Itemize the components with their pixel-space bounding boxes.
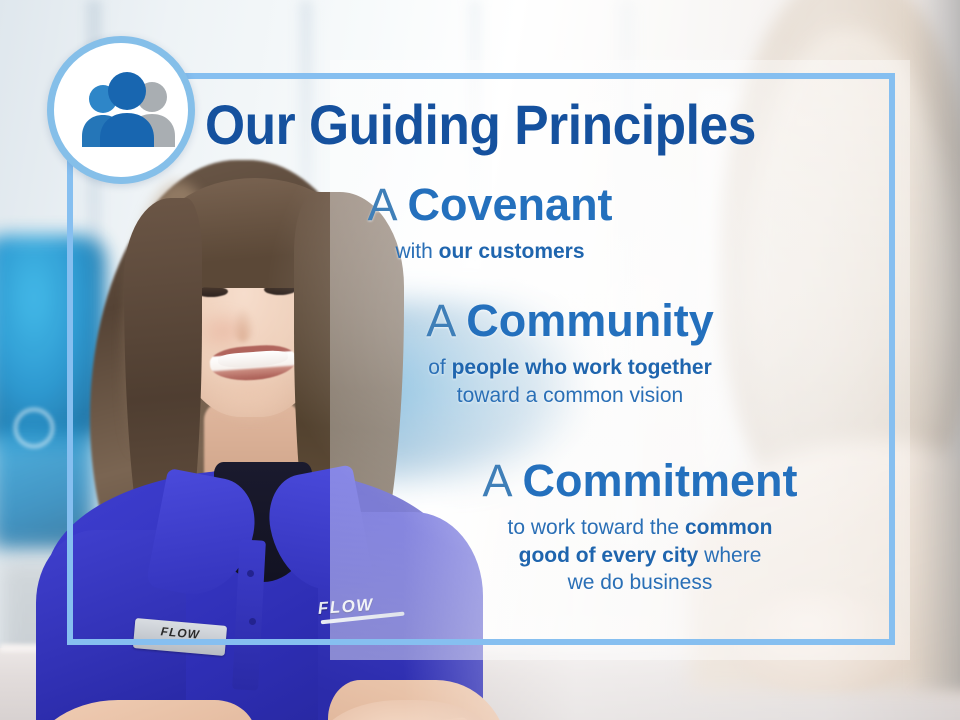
principle-word: Commitment: [523, 455, 798, 506]
principle-article: A: [482, 455, 510, 506]
name-badge-text: FLOW: [134, 622, 227, 644]
principle-heading: A Covenant: [260, 182, 720, 229]
principle-covenant: A Covenant with our customers: [260, 182, 720, 266]
employee-nose: [232, 308, 254, 342]
principle-community: A Community of people who work togethert…: [320, 298, 820, 409]
employee-chin: [204, 384, 296, 424]
principle-detail: with our customers: [260, 238, 720, 266]
page-title: Our Guiding Principles: [0, 92, 960, 157]
shirt-button: [249, 618, 256, 625]
principle-article: A: [426, 295, 454, 346]
principle-word: Covenant: [408, 179, 613, 230]
principle-article: A: [367, 179, 395, 230]
principle-heading: A Commitment: [380, 458, 900, 505]
poster-canvas: FLOW FLOW: [0, 0, 960, 720]
page-title-text: Our Guiding Principles: [205, 92, 756, 157]
principle-heading: A Community: [320, 298, 820, 345]
principle-detail: of people who work togethertoward a comm…: [320, 354, 820, 409]
principle-detail: to work toward the commongood of every c…: [380, 514, 900, 597]
shirt-button: [247, 570, 254, 577]
principle-word: Community: [466, 295, 714, 346]
principle-commitment: A Commitment to work toward the commongo…: [380, 458, 900, 597]
